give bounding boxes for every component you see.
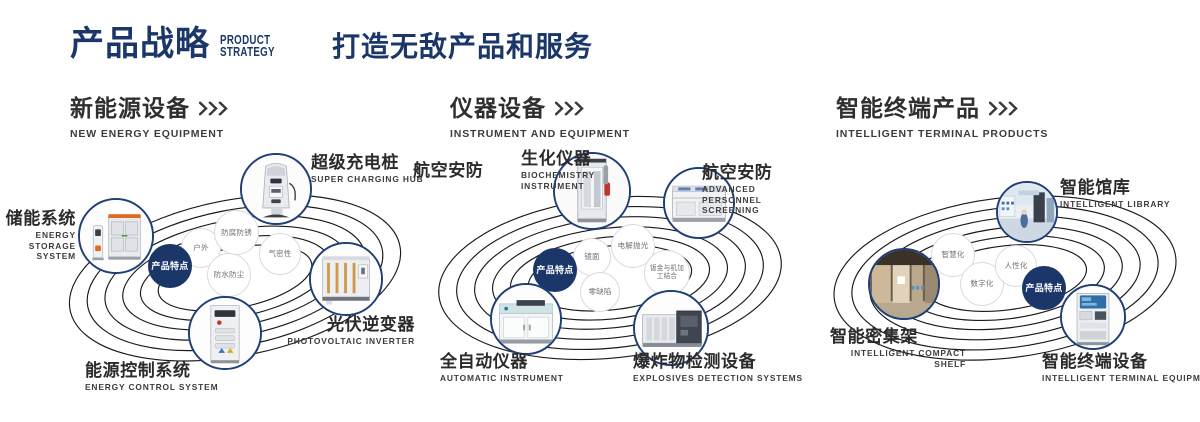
cluster-instrument: 镜面 电解抛光 钣金与机加工结合 零缺陷 产品特点 航空安防 [425,150,795,390]
energy-storage-cabinet-icon [80,200,152,272]
label-intelligent-library: 智能馆库 INTELLIGENT LIBRARY [1060,179,1170,210]
node-intelligent-library[interactable] [996,181,1058,243]
feature-label: 数字化 [970,279,993,288]
center-badge-label: 产品特点 [151,261,188,272]
feature-bubble: 气密性 [259,233,301,275]
center-badge-intelligent-terminal: 产品特点 [1022,266,1066,310]
node-energy-storage-system[interactable] [78,198,154,274]
node-automatic-instrument[interactable] [490,283,562,355]
node-title-en: ENERGY CONTROL SYSTEM [85,382,218,393]
chevrons-svg [989,102,1023,116]
section-title-cn-new-energy: 新能源设备 [70,97,190,120]
section-heading-instrument: 仪器设备 INSTRUMENT AND EQUIPMENT [450,97,630,140]
chevron-right-icon [989,102,1023,116]
node-title-cn: 储能系统 [0,210,76,228]
node-title-en: INTELLIGENT TERMINAL EQUIPMENT [1042,373,1200,384]
feature-label: 防腐防锈 [221,228,252,237]
node-super-charging-hub[interactable] [240,153,312,225]
section-title-cn-instrument: 仪器设备 [450,97,546,120]
self-service-kiosk-icon [1062,286,1124,348]
node-title-cn: 智能终端设备 [1042,353,1200,371]
feature-label: 户外 [193,243,208,252]
feature-bubble: 零缺陷 [580,272,620,312]
center-badge-label: 产品特点 [536,265,573,276]
cluster-intelligent-terminal: 智慧化 数字化 人性化 产品特点 [820,150,1190,390]
feature-bubble: 钣金与机加工结合 [644,250,690,296]
feature-label: 防水防尘 [214,270,245,279]
node-title-en: EXPLOSIVES DETECTION SYSTEMS [633,373,803,384]
node-title-en: INTELLIGENT COMPACT SHELF [830,348,966,369]
feature-label: 镜面 [584,252,599,261]
node-title-en: PHOTOVOLTAIC INVERTER [287,336,415,347]
label-automatic-instrument: 全自动仪器 AUTOMATIC INSTRUMENT [440,353,564,384]
node-title-en: AUTOMATIC INSTRUMENT [440,373,564,384]
node-title-en: SUPER CHARGING HUB [311,174,424,185]
feature-label: 电解抛光 [618,241,649,250]
section-heading-intelligent-terminal: 智能终端产品 INTELLIGENT TERMINAL PRODUCTS [836,97,1048,140]
feature-bubble: 镜面 [573,238,611,276]
label-explosives-detection: 爆炸物检测设备 EXPLOSIVES DETECTION SYSTEMS [633,353,803,384]
node-title-en: ENERGY STORAGE SYSTEM [0,230,76,262]
page-title-cn: 产品战略 [70,27,210,61]
section-title-en-intelligent-terminal: INTELLIGENT TERMINAL PRODUCTS [836,128,1048,140]
page-title-en-line1: PRODUCT [220,34,275,47]
feature-bubble: 防水防尘 [207,253,251,297]
node-title-cn: 生化仪器 [521,150,591,168]
feature-label: 零缺陷 [588,287,611,296]
feature-label: 智慧化 [941,250,964,259]
node-title-cn: 光伏逆变器 [287,316,415,334]
node-intelligent-compact-shelf[interactable] [868,248,940,320]
section-title-cn-intelligent-terminal: 智能终端产品 [836,97,980,120]
ev-charging-pile-icon [242,155,310,223]
label-energy-storage-system: 储能系统 ENERGY STORAGE SYSTEM [0,210,76,262]
compact-shelving-icon [870,250,938,318]
chevrons-svg [199,102,233,116]
automatic-analyzer-icon [492,285,560,353]
pv-inverter-cabinet-icon [311,244,381,314]
center-badge-new-energy: 产品特点 [148,244,192,288]
node-title-cn: 航空安防 [413,162,483,180]
page-title-en: PRODUCT STRATEGY [220,34,275,60]
section-heading-new-energy: 新能源设备 NEW ENERGY EQUIPMENT [70,97,233,140]
page-title: 产品战略 PRODUCT STRATEGY [70,27,290,61]
node-title-cn: 超级充电桩 [311,154,424,172]
chevrons-svg [555,102,589,116]
label-intelligent-compact-shelf: 智能密集架 INTELLIGENT COMPACT SHELF [830,328,966,369]
feature-label: 钣金与机加工结合 [647,265,687,281]
label-personnel-screening: 航空安防 ADVANCED PERSONNEL SCREENING [702,164,812,216]
label-energy-control-system: 能源控制系统 ENERGY CONTROL SYSTEM [85,362,218,393]
section-title-en-new-energy: NEW ENERGY EQUIPMENT [70,128,233,140]
feature-label: 气密性 [268,249,291,258]
node-title-cn: 智能馆库 [1060,179,1170,197]
page-subtitle: 打造无敌产品和服务 [332,33,593,61]
label-biochemistry-instrument: 生化仪器 BIOCHEMISTRY INSTRUMENT [521,150,591,191]
chevron-right-icon [199,102,233,116]
label-aviation-security-left: 航空安防 [413,162,483,180]
node-intelligent-terminal-equipment[interactable] [1060,284,1126,350]
node-title-en: INTELLIGENT LIBRARY [1060,199,1170,210]
node-title-en: BIOCHEMISTRY INSTRUMENT [521,170,591,191]
node-title-cn: 爆炸物检测设备 [633,353,803,371]
feature-label: 人性化 [1004,261,1027,270]
node-title-cn: 全自动仪器 [440,353,564,371]
page-title-en-line2: STRATEGY [220,46,275,59]
cluster-new-energy: 户外 防腐防锈 防水防尘 气密性 产品特点 [55,150,415,390]
node-title-cn: 能源控制系统 [85,362,218,380]
center-badge-label: 产品特点 [1025,283,1062,294]
section-title-en-instrument: INSTRUMENT AND EQUIPMENT [450,128,630,140]
node-title-cn: 智能密集架 [830,328,966,346]
control-cabinet-icon [190,298,260,368]
chevron-right-icon [555,102,589,116]
node-photovoltaic-inverter[interactable] [309,242,383,316]
label-super-charging-hub: 超级充电桩 SUPER CHARGING HUB [311,154,424,185]
product-strategy-infographic: 产品战略 PRODUCT STRATEGY 打造无敌产品和服务 新能源设备 NE… [0,0,1200,422]
smart-library-room-icon [998,183,1056,241]
label-intelligent-terminal-equipment: 智能终端设备 INTELLIGENT TERMINAL EQUIPMENT [1042,353,1200,384]
node-title-en: ADVANCED PERSONNEL SCREENING [702,184,812,216]
node-title-cn: 航空安防 [702,164,812,182]
label-photovoltaic-inverter: 光伏逆变器 PHOTOVOLTAIC INVERTER [287,316,415,347]
node-energy-control-system[interactable] [188,296,262,370]
